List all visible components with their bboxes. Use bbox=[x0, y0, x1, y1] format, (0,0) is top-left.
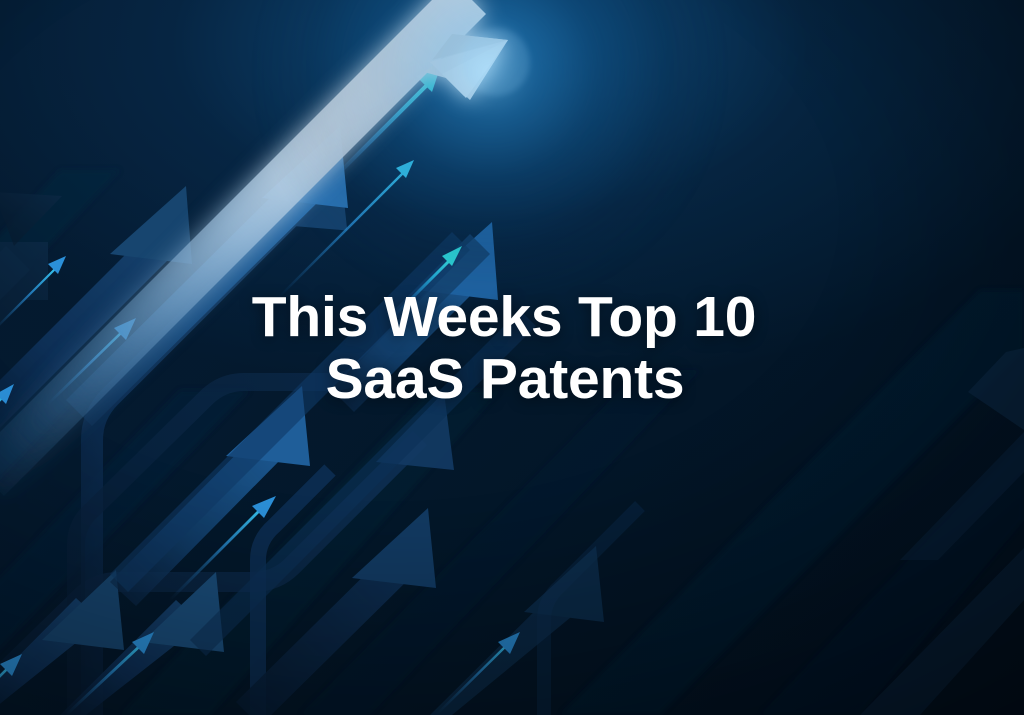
background-vignette bbox=[0, 0, 1024, 715]
hero-banner: This Weeks Top 10 SaaS Patents bbox=[0, 0, 1024, 715]
